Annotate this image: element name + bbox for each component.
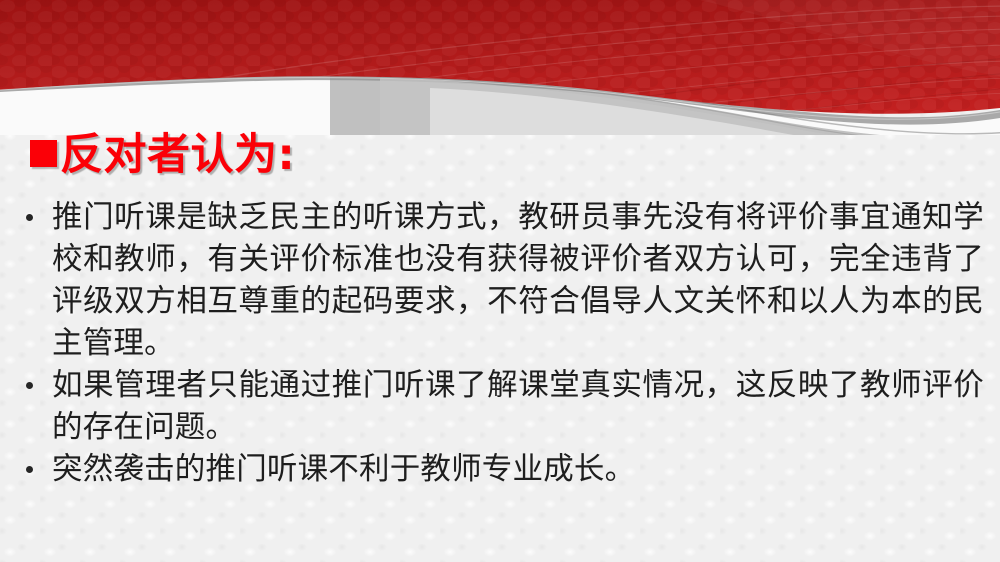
round-bullet-icon — [26, 196, 52, 221]
presentation-slide: 反对者认为: 推门听课是缺乏民主的听课方式，教研员事先没有将评价事宜通知学校和教… — [0, 0, 1000, 562]
list-item: 如果管理者只能通过推门听课了解课堂真实情况，这反映了教师评价的存在问题。 — [26, 364, 984, 448]
round-bullet-icon — [26, 364, 52, 389]
page-title: 反对者认为: — [30, 132, 295, 179]
slide-content: 反对者认为: 推门听课是缺乏民主的听课方式，教研员事先没有将评价事宜通知学校和教… — [0, 0, 1000, 562]
list-item-text: 推门听课是缺乏民主的听课方式，教研员事先没有将评价事宜通知学校和教师，有关评价标… — [52, 196, 984, 364]
list-item-text: 突然袭击的推门听课不利于教师专业成长。 — [52, 448, 984, 490]
list-item: 突然袭击的推门听课不利于教师专业成长。 — [26, 448, 984, 490]
page-title-text: 反对者认为: — [60, 130, 295, 180]
list-item: 推门听课是缺乏民主的听课方式，教研员事先没有将评价事宜通知学校和教师，有关评价标… — [26, 196, 984, 364]
square-bullet-icon — [30, 140, 57, 167]
bullet-list: 推门听课是缺乏民主的听课方式，教研员事先没有将评价事宜通知学校和教师，有关评价标… — [26, 196, 984, 490]
list-item-text: 如果管理者只能通过推门听课了解课堂真实情况，这反映了教师评价的存在问题。 — [52, 364, 984, 448]
round-bullet-icon — [26, 448, 52, 473]
